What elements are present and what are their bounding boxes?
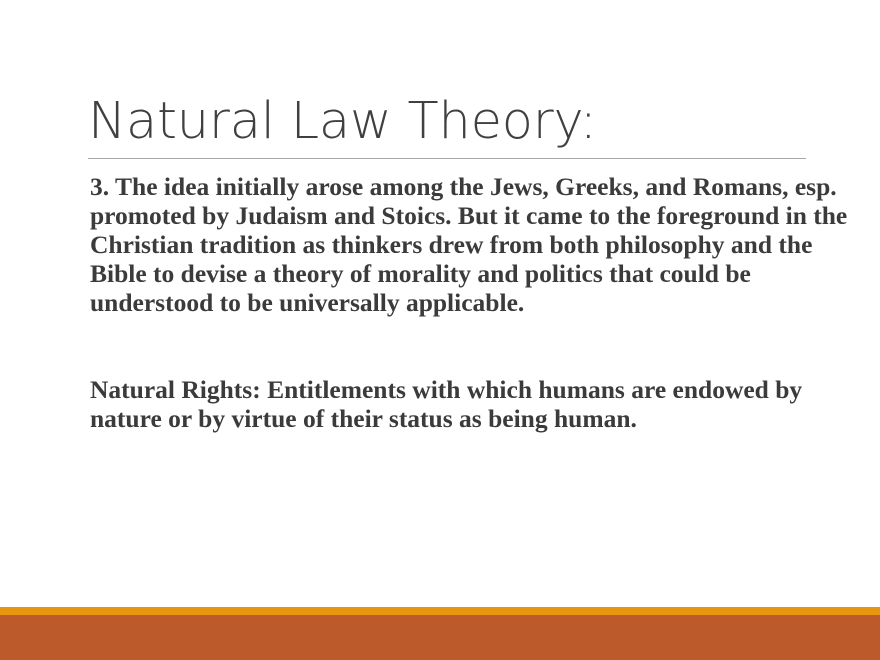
page-title: Natural Law Theory:: [88, 92, 806, 152]
footer-accent-band: [0, 615, 880, 660]
footer-accent-stripe: [0, 607, 880, 615]
paragraph-spacer: [90, 317, 865, 375]
title-divider: [88, 158, 806, 159]
presentation-slide: Natural Law Theory: 3. The idea initiall…: [0, 0, 880, 660]
slide-title-block: Natural Law Theory:: [88, 92, 806, 159]
body-paragraph-1: 3. The idea initially arose among the Je…: [90, 172, 865, 317]
body-paragraph-2: Natural Rights: Entitlements with which …: [90, 375, 865, 433]
slide-body-block: 3. The idea initially arose among the Je…: [90, 172, 865, 433]
